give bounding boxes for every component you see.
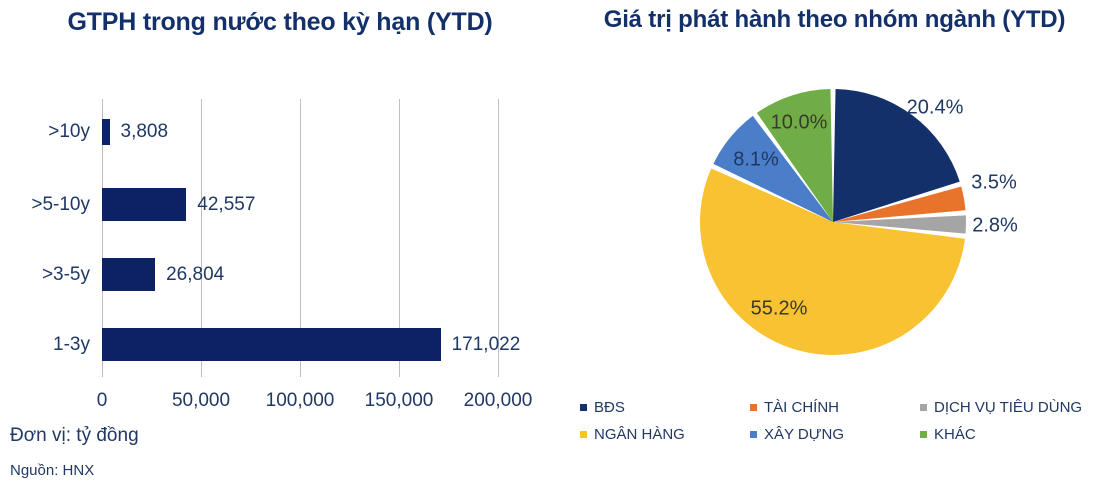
- pie-slice-pct-bds: 20.4%: [907, 97, 964, 120]
- bar-category-label: 1-3y: [53, 334, 90, 356]
- bar-value-label: 42,557: [197, 194, 255, 216]
- bar-row[interactable]: >5-10y 42,557: [102, 188, 498, 221]
- legend-item-taichinh[interactable]: TÀI CHÍNH: [750, 399, 920, 416]
- bar-value-label: 171,022: [452, 334, 521, 356]
- bar-value-label: 3,808: [121, 121, 169, 143]
- pie-slice-group: [700, 89, 966, 355]
- bar-category-label: >3-5y: [42, 264, 90, 286]
- legend-item-nganhang[interactable]: NGÂN HÀNG: [580, 426, 750, 443]
- legend-label: BĐS: [594, 399, 625, 416]
- unit-note: Đơn vị: tỷ đồng: [10, 425, 139, 447]
- x-axis-tick: 0: [97, 390, 108, 412]
- bar-value-label: 26,804: [166, 264, 224, 286]
- legend-swatch-icon: [580, 431, 587, 438]
- bar-rect[interactable]: [102, 119, 110, 145]
- bar-category-label: >5-10y: [31, 194, 90, 216]
- pie-chart-legend: BĐS TÀI CHÍNH DỊCH VỤ TIÊU DÙNG NGÂN HÀN…: [580, 394, 1100, 448]
- legend-swatch-icon: [920, 431, 927, 438]
- bar-category-label: >10y: [48, 121, 90, 143]
- legend-item-xaydung[interactable]: XÂY DỰNG: [750, 426, 920, 443]
- pie-chart-svg: [560, 0, 1109, 400]
- legend-label: NGÂN HÀNG: [594, 426, 685, 443]
- x-axis-tick: 100,000: [266, 390, 335, 412]
- x-axis-tick: 50,000: [172, 390, 230, 412]
- bar-rect[interactable]: [102, 258, 155, 291]
- bar-chart-title: GTPH trong nước theo kỳ hạn (YTD): [0, 8, 560, 38]
- legend-swatch-icon: [580, 404, 587, 411]
- pie-slice-pct-xaydung: 8.1%: [733, 149, 779, 172]
- pie-chart-plot-area: [560, 0, 1109, 400]
- bar-chart-plot-area: >10y 3,808 >5-10y 42,557 >3-5y 26,804 1-…: [102, 99, 498, 377]
- bar-row[interactable]: >3-5y 26,804: [102, 258, 498, 291]
- legend-label: DỊCH VỤ TIÊU DÙNG: [934, 399, 1082, 416]
- legend-label: KHÁC: [934, 426, 976, 443]
- pie-chart-panel: Giá trị phát hành theo nhóm ngành (YTD) …: [560, 0, 1109, 495]
- legend-label: XÂY DỰNG: [764, 426, 844, 443]
- x-axis-tick: 150,000: [365, 390, 434, 412]
- bar-rect[interactable]: [102, 328, 441, 361]
- legend-swatch-icon: [920, 404, 927, 411]
- legend-item-khac[interactable]: KHÁC: [920, 426, 1100, 443]
- pie-slice-pct-taichinh: 3.5%: [971, 172, 1017, 195]
- bar-row[interactable]: >10y 3,808: [102, 119, 498, 145]
- legend-swatch-icon: [750, 431, 757, 438]
- pie-slice-pct-nganhang: 55.2%: [751, 298, 808, 321]
- legend-item-bds[interactable]: BĐS: [580, 399, 750, 416]
- source-note: Nguồn: HNX: [10, 462, 94, 479]
- bar-chart-panel: GTPH trong nước theo kỳ hạn (YTD) >10y 3…: [0, 0, 560, 495]
- x-axis-tick: 200,000: [464, 390, 533, 412]
- pie-slice-pct-khac: 10.0%: [771, 112, 828, 135]
- bar-rect[interactable]: [102, 188, 186, 221]
- legend-label: TÀI CHÍNH: [764, 399, 839, 416]
- pie-slice-pct-dichvu: 2.8%: [972, 215, 1018, 238]
- bar-row[interactable]: 1-3y 171,022: [102, 328, 498, 361]
- legend-item-dichvutieudung[interactable]: DỊCH VỤ TIÊU DÙNG: [920, 399, 1100, 416]
- legend-swatch-icon: [750, 404, 757, 411]
